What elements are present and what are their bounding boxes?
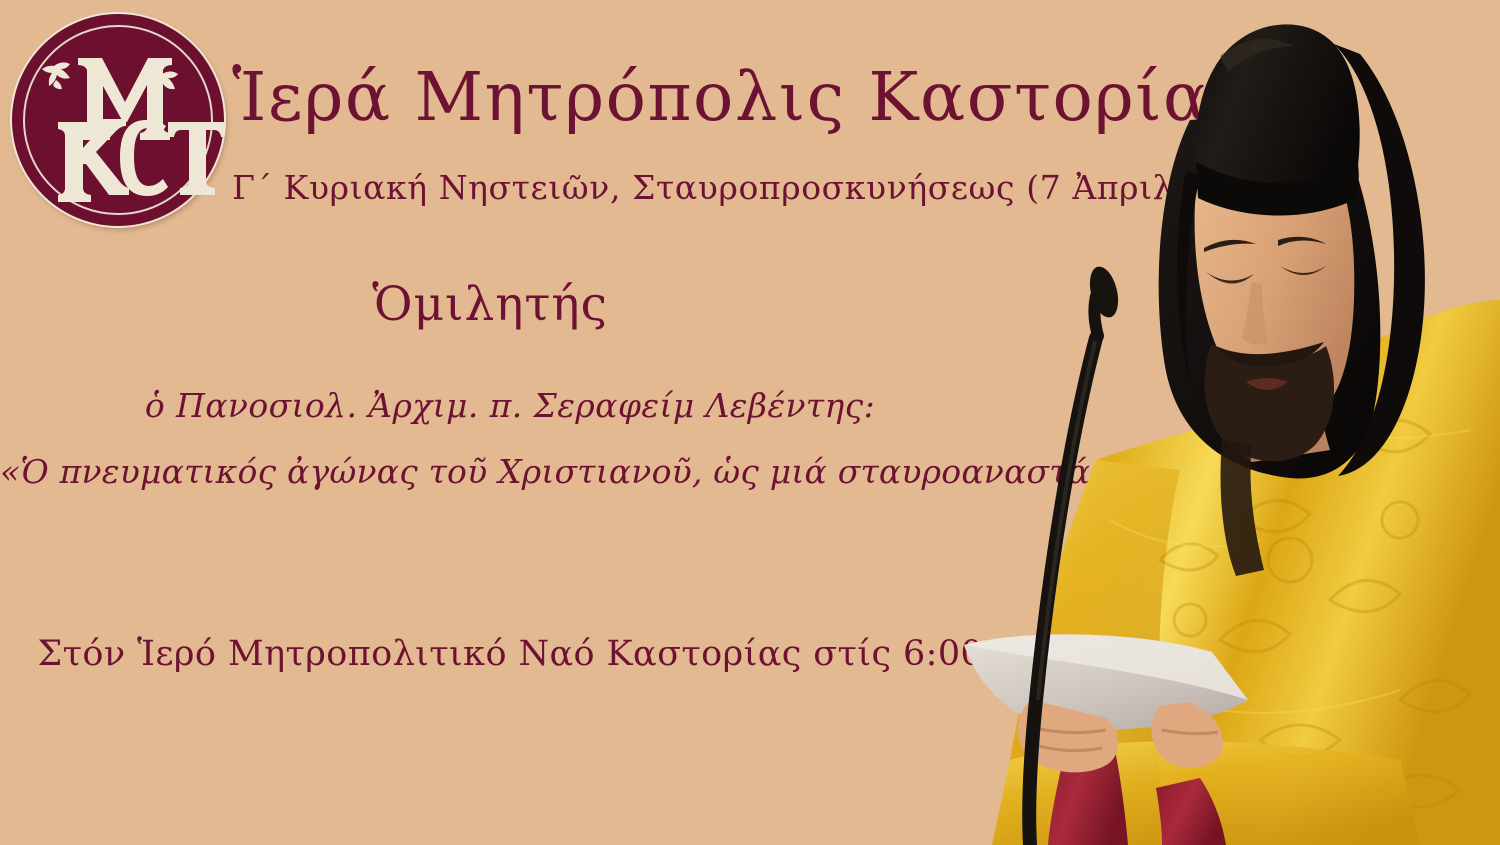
seal-monogram-icon [12,14,224,226]
metropolis-seal [12,14,224,226]
priest-photo [860,0,1500,845]
kalimavkion [1196,24,1360,195]
poster-canvas: Ἱερά Μητρόπολις Καστορίας Γ΄ Κυριακή Νησ… [0,0,1500,845]
speaker-heading: Ὁμιλητής [0,277,980,332]
